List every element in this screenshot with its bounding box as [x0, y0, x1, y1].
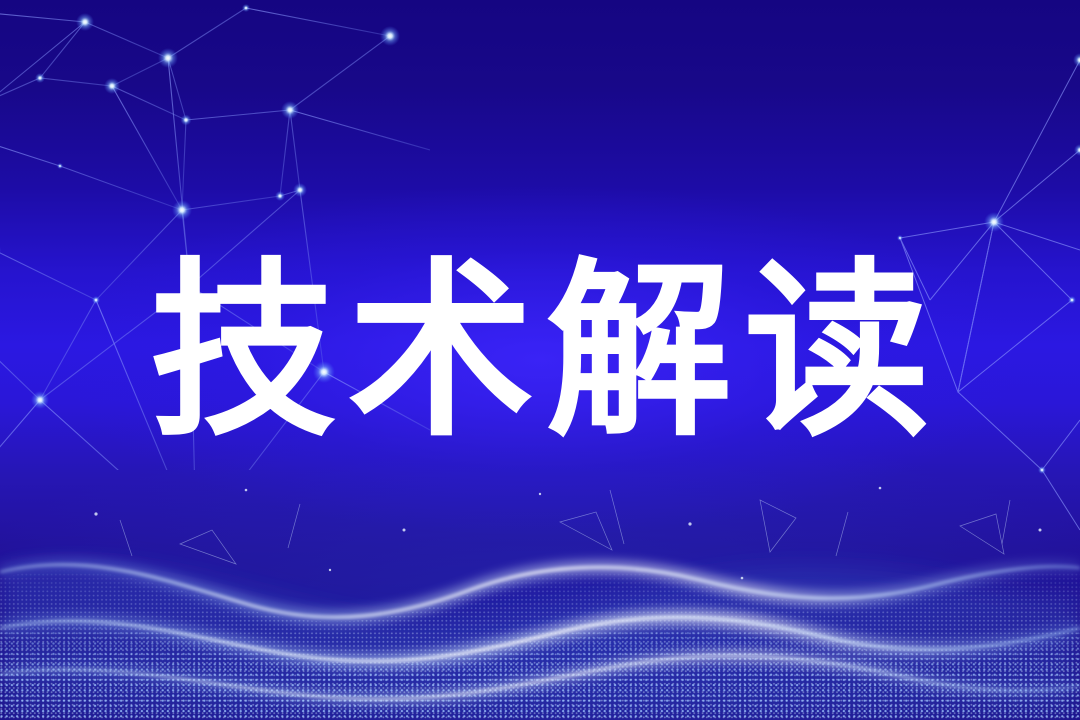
headline-container: 技术解读 — [0, 248, 1080, 458]
page-title: 技术解读 — [138, 258, 942, 448]
particle-wave-field — [0, 460, 1080, 720]
poster-canvas: 技术解读 — [0, 0, 1080, 720]
